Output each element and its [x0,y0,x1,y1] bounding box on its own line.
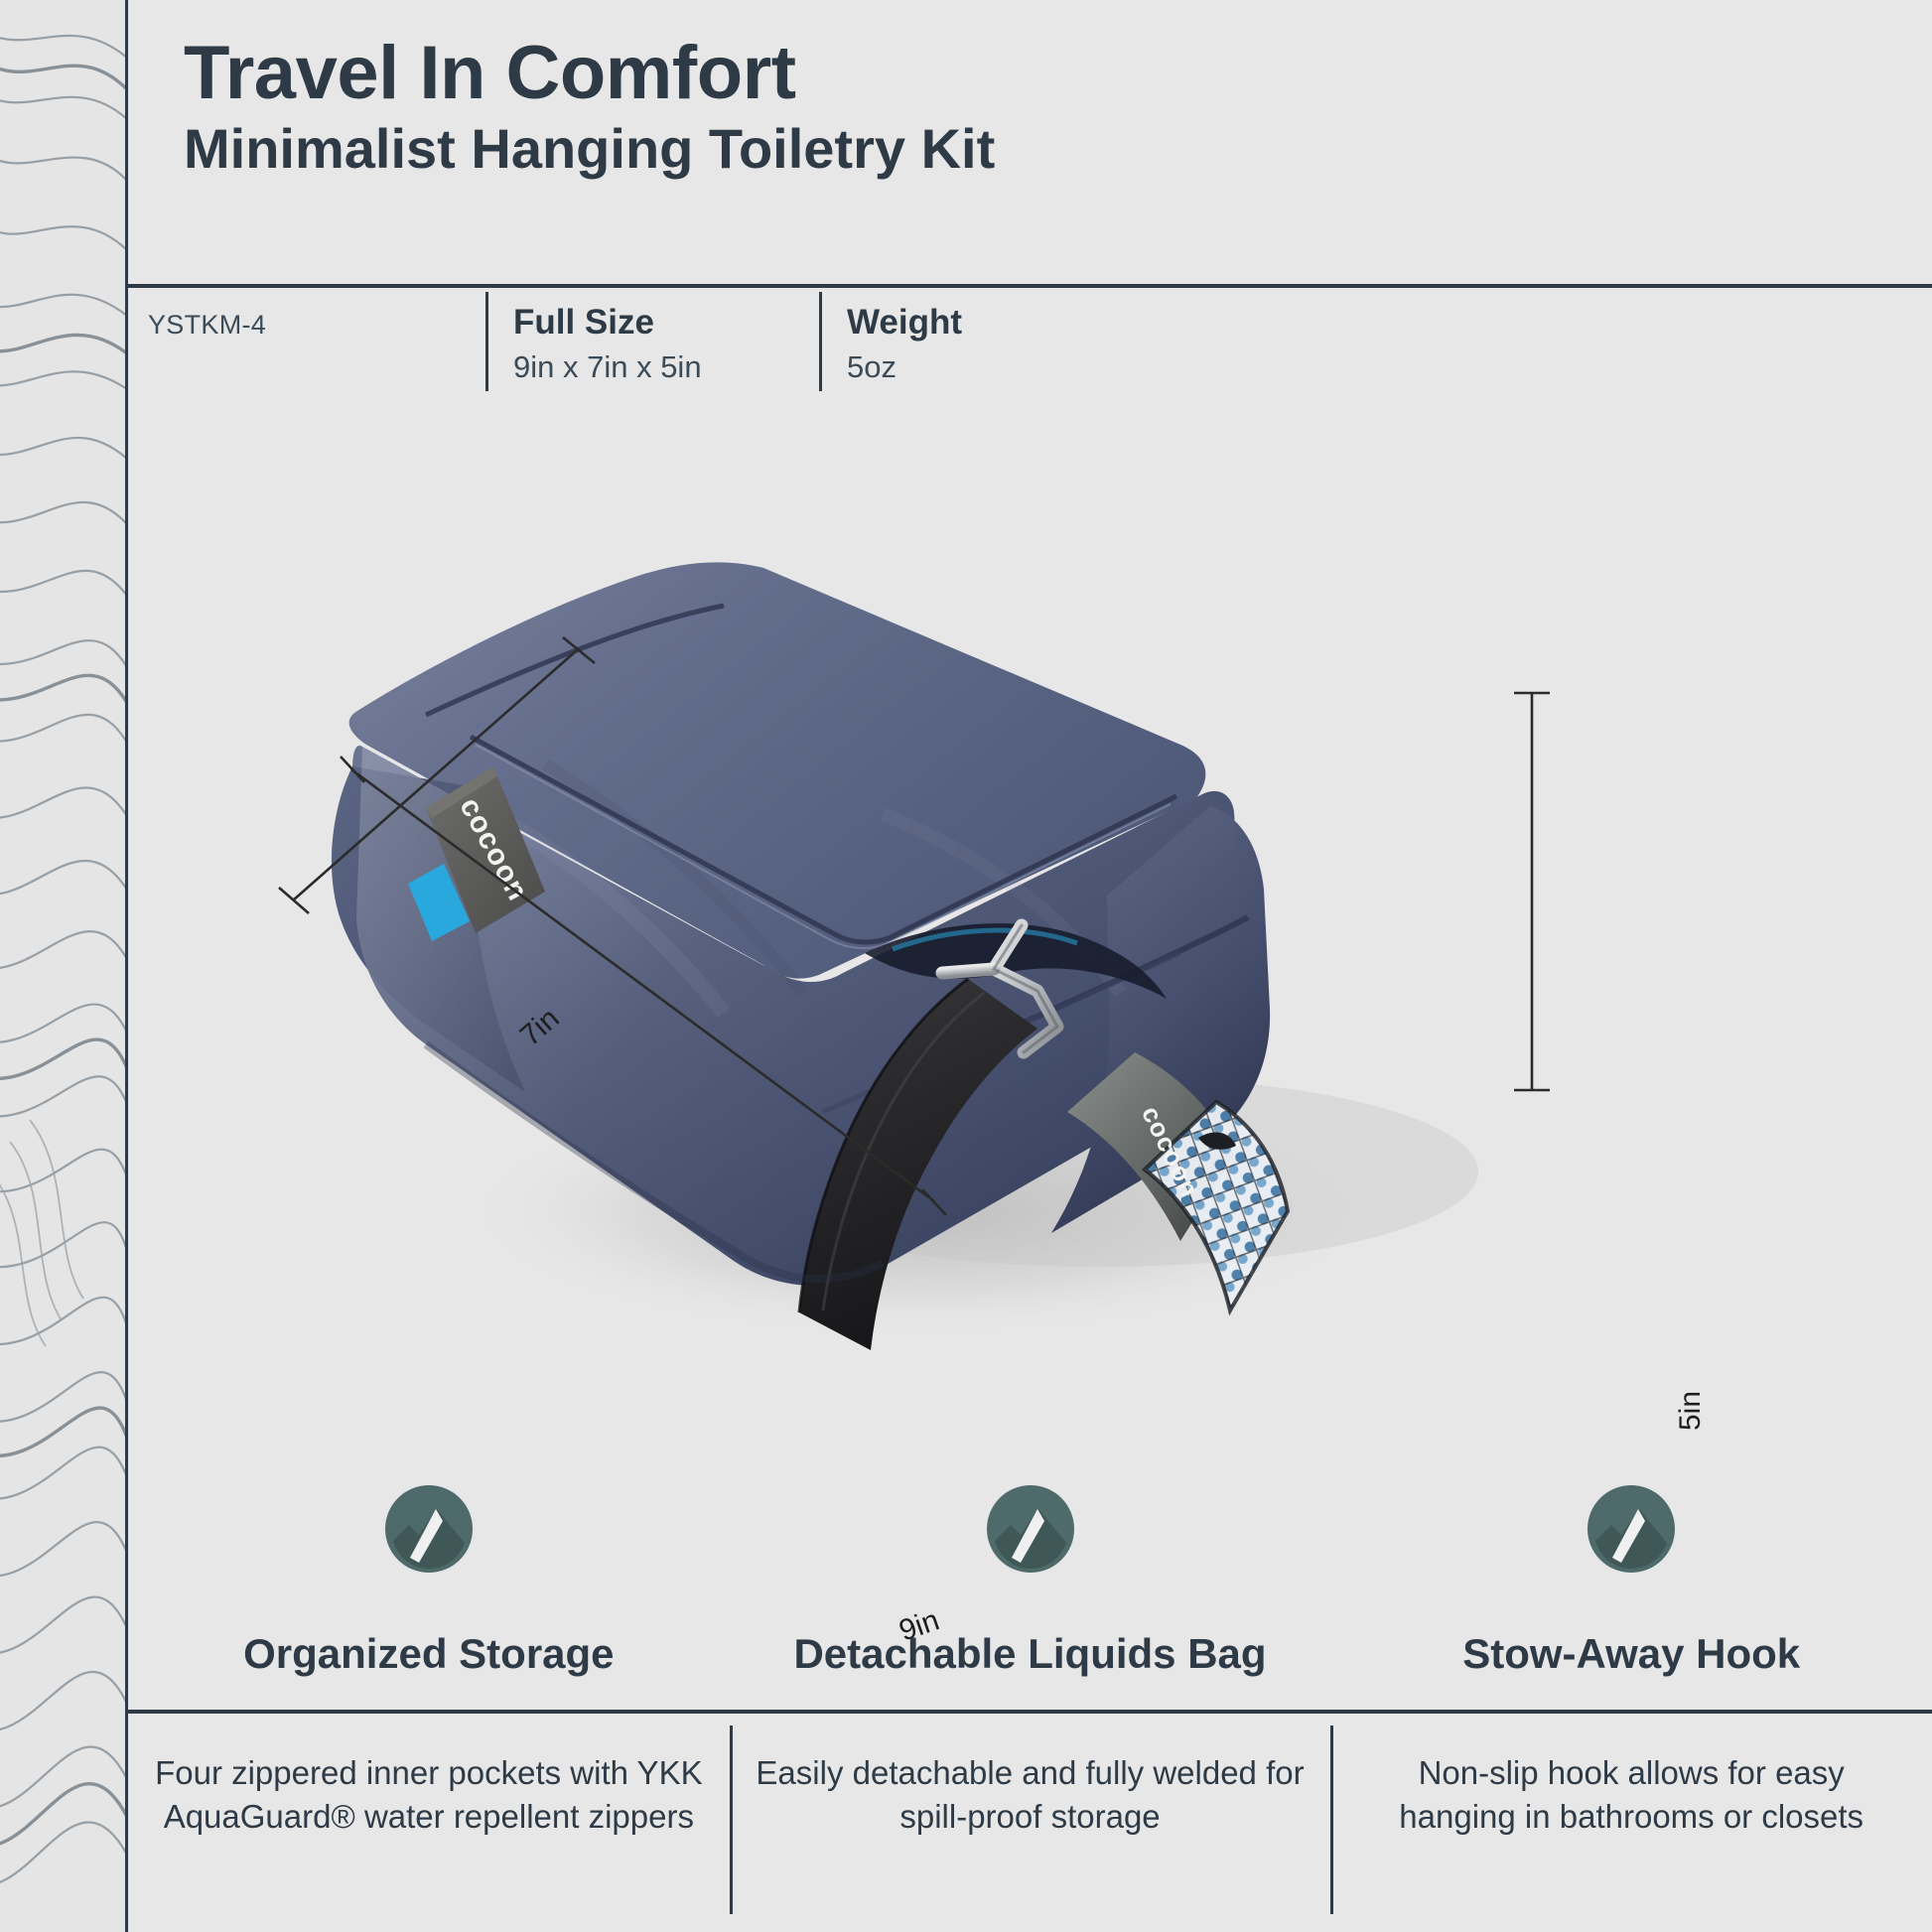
feature-title: Stow-Away Hook [1462,1630,1800,1678]
infographic-page: Travel In Comfort Minimalist Hanging Toi… [0,0,1932,1932]
spec-weight-value: 5oz [847,348,1216,385]
header: Travel In Comfort Minimalist Hanging Toi… [128,0,1932,180]
spec-weight-label: Weight [847,302,1216,345]
feature-description: Four zippered inner pockets with YKK Aqu… [128,1714,730,1932]
spec-row: YSTKM-4 Full Size 9in x 7in x 5in Weight… [128,288,1932,411]
mountain-circle-icon [1582,1479,1681,1579]
feature-stow-away-hook: Stow-Away Hook [1330,1479,1932,1688]
feature-icon-row: Organized Storage Detachable Liquids Bag… [128,1479,1932,1688]
page-subtitle: Minimalist Hanging Toiletry Kit [184,118,1932,181]
product-photo: cocoon [128,417,1932,1479]
product-hero: cocoon [128,417,1932,1479]
feature-title: Organized Storage [243,1630,614,1678]
spec-full-size-value: 9in x 7in x 5in [513,348,819,385]
spec-full-size: Full Size 9in x 7in x 5in [485,288,819,385]
feature-description-row: Four zippered inner pockets with YKK Aqu… [128,1714,1932,1932]
topographic-pattern-strip [0,0,127,1932]
feature-title: Detachable Liquids Bag [793,1630,1266,1678]
feature-detachable-liquids-bag: Detachable Liquids Bag [730,1479,1331,1688]
mountain-circle-icon [379,1479,479,1579]
mountain-circle-icon [981,1479,1080,1579]
feature-description: Non-slip hook allows for easy hanging in… [1330,1714,1932,1932]
feature-description: Easily detachable and fully welded for s… [730,1714,1331,1932]
dimension-label-height: 5in [1674,1391,1708,1431]
spec-full-size-label: Full Size [513,302,819,345]
sku-label: YSTKM-4 [128,288,485,341]
spec-weight: Weight 5oz [819,288,1216,385]
feature-organized-storage: Organized Storage [128,1479,730,1688]
page-title: Travel In Comfort [184,34,1932,114]
